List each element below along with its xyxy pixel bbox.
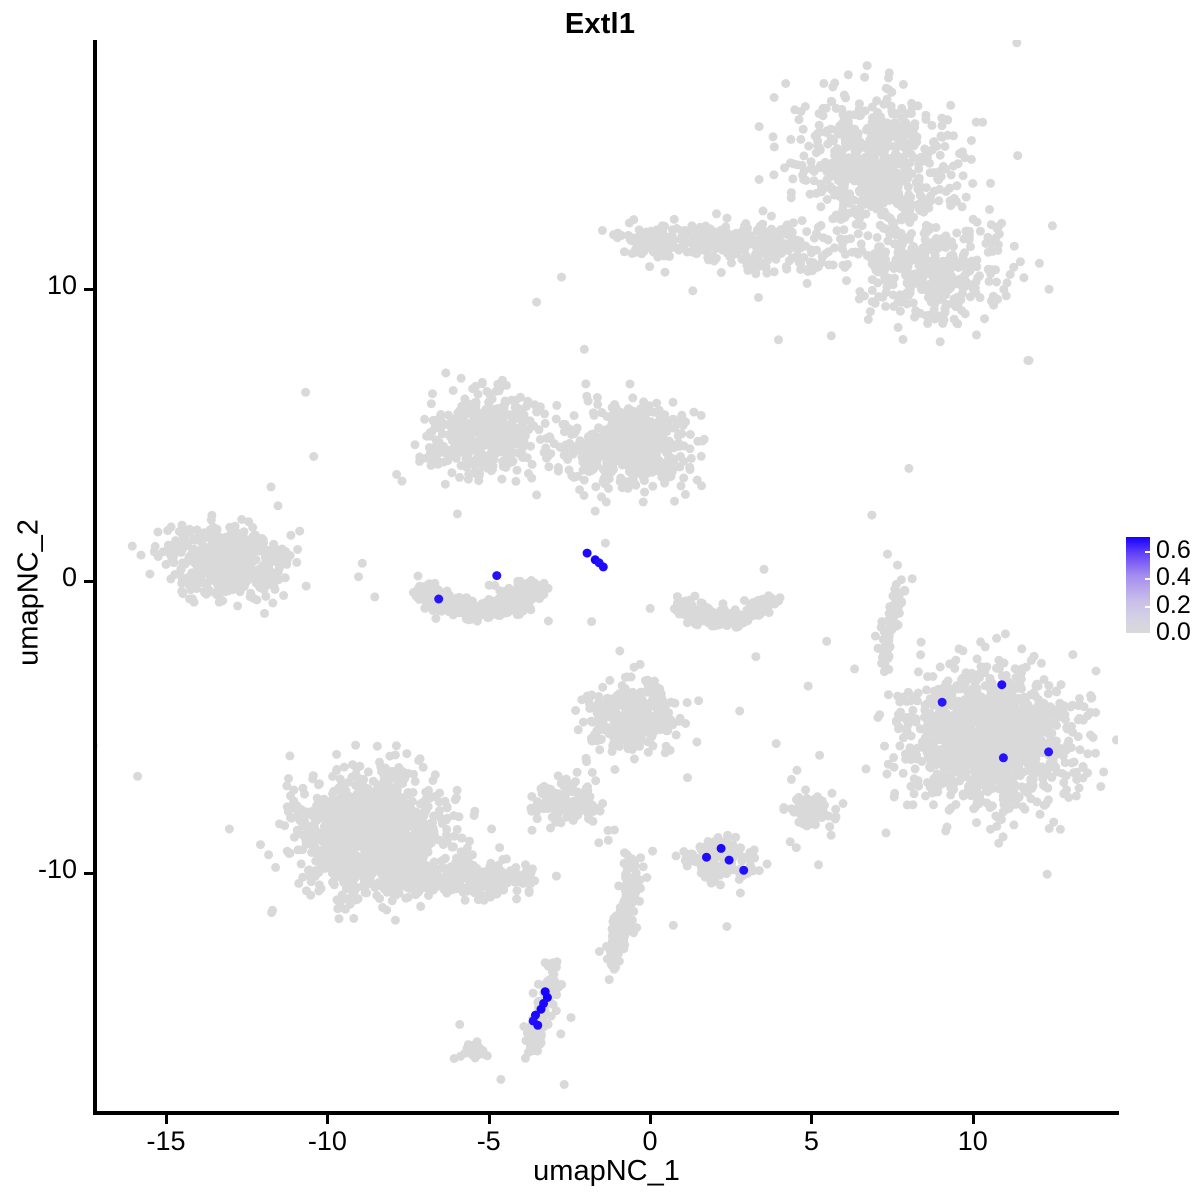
y-tick-mark: [84, 580, 93, 583]
x-axis-title: umapNC_1: [95, 1155, 1118, 1188]
x-tick-label: -10: [267, 1126, 387, 1157]
x-tick-label: 10: [913, 1126, 1033, 1157]
colorbar-legend: 0.60.40.20.0: [1126, 537, 1200, 637]
page-title: Extl1: [0, 8, 1200, 41]
colorbar-tick-mark: [1145, 578, 1151, 580]
colorbar-tick-label: 0.6: [1156, 538, 1191, 563]
highlighted-point: [434, 595, 443, 604]
highlighted-point: [997, 680, 1006, 689]
x-tick-mark: [810, 1115, 813, 1124]
highlighted-point: [739, 866, 748, 875]
colorbar-tick-mark: [1145, 633, 1151, 635]
highlighted-point: [492, 571, 501, 580]
x-tick-mark: [488, 1115, 491, 1124]
x-tick-label: 5: [751, 1126, 871, 1157]
x-tick-mark: [649, 1115, 652, 1124]
highlighted-point: [717, 844, 726, 853]
y-tick-mark: [84, 872, 93, 875]
highlighted-point: [702, 853, 711, 862]
highlighted-point: [938, 698, 947, 707]
umap-feature-plot: Extl1 -15-10-50510 100-10 umapNC_1 umapN…: [0, 0, 1200, 1200]
highlighted-point: [1044, 747, 1053, 756]
colorbar-tick-label: 0.4: [1156, 565, 1191, 590]
colorbar-tick-mark: [1145, 551, 1151, 553]
colorbar-tick-label: 0.2: [1156, 593, 1191, 618]
x-tick-mark: [326, 1115, 329, 1124]
highlighted-point: [725, 856, 734, 865]
highlighted-point: [533, 1021, 542, 1030]
x-tick-label: -15: [106, 1126, 226, 1157]
highlighted-point: [583, 549, 592, 558]
y-axis-title: umapNC_2: [13, 293, 46, 893]
scatter-layer: [95, 40, 1118, 1113]
highlighted-point: [599, 562, 608, 571]
y-tick-mark: [84, 288, 93, 291]
x-tick-mark: [972, 1115, 975, 1124]
x-axis-line: [93, 1111, 1119, 1115]
plot-panel: [95, 40, 1118, 1113]
x-tick-mark: [165, 1115, 168, 1124]
x-tick-label: -5: [429, 1126, 549, 1157]
colorbar-tick-label: 0.0: [1156, 620, 1191, 645]
colorbar-tick-mark: [1145, 606, 1151, 608]
x-tick-label: 0: [590, 1126, 710, 1157]
highlighted-point: [999, 753, 1008, 762]
y-axis-line: [93, 40, 97, 1115]
